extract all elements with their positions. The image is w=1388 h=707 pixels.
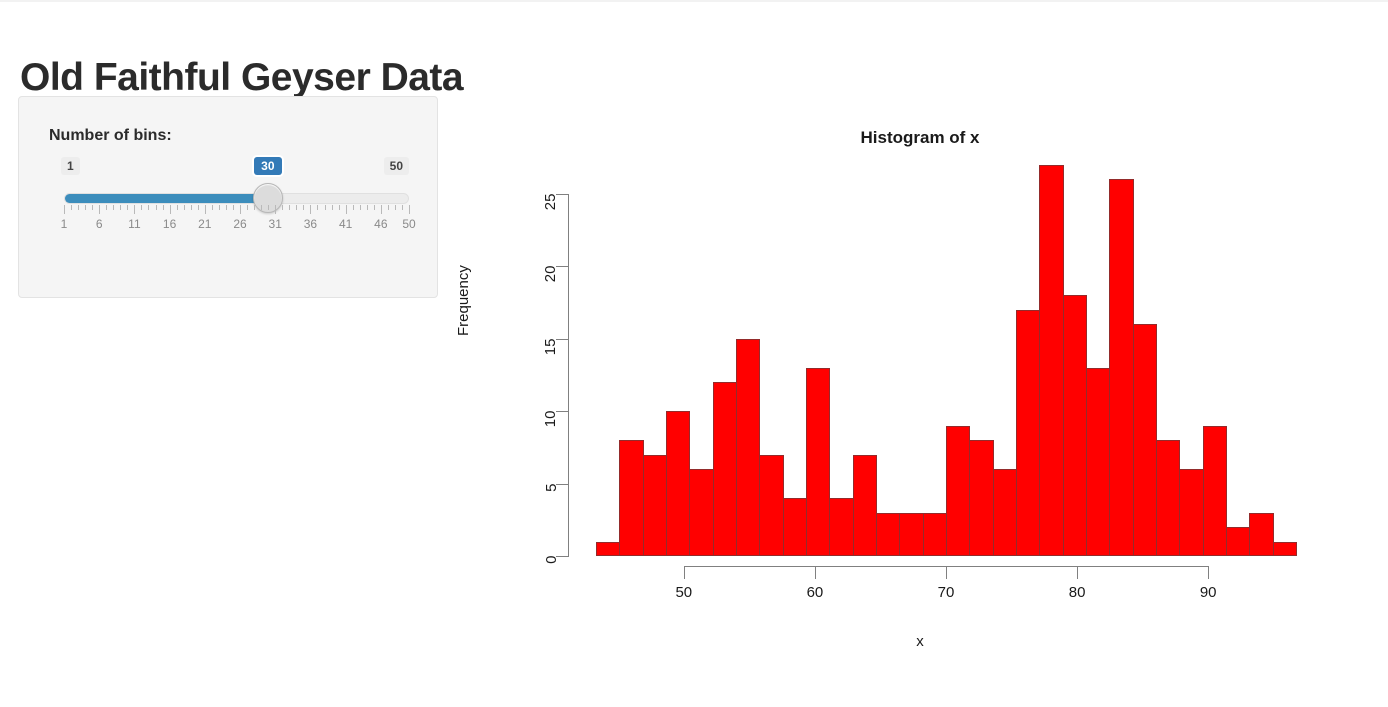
- slider-tick-label: 6: [96, 217, 103, 231]
- histogram-bar: [923, 513, 947, 556]
- slider-tick: [134, 205, 135, 214]
- slider-tick: [170, 205, 171, 214]
- slider-tick-label: 1: [61, 217, 68, 231]
- histogram-bar: [993, 469, 1017, 556]
- slider-tick: [268, 205, 269, 210]
- slider-tick: [212, 205, 213, 210]
- y-axis-tick-label: 25: [543, 193, 560, 210]
- x-axis-tick: [1208, 566, 1209, 579]
- slider-tick: [156, 205, 157, 210]
- x-axis-tick: [1077, 566, 1078, 579]
- slider-tick: [191, 205, 192, 210]
- slider-value-bubble: 30: [254, 157, 281, 175]
- slider-tick-label: 36: [304, 217, 317, 231]
- histogram-bar: [899, 513, 923, 556]
- histogram-bar: [689, 469, 713, 556]
- slider-tick: [184, 205, 185, 210]
- slider-tick: [353, 205, 354, 210]
- slider-tick: [78, 205, 79, 210]
- chart-title: Histogram of x: [460, 128, 1380, 148]
- slider-tick: [395, 205, 396, 210]
- histogram-bar: [876, 513, 900, 556]
- sidebar-well-panel: Number of bins: 1 30 50 1611162126313641…: [18, 96, 438, 298]
- slider-tick: [120, 205, 121, 210]
- y-axis: 0510152025: [555, 200, 569, 540]
- y-axis-label: Frequency: [455, 265, 472, 336]
- y-axis-tick-label: 0: [543, 556, 560, 564]
- slider-tick-labels: 16111621263136414650: [64, 217, 409, 233]
- slider-tick: [360, 205, 361, 210]
- slider-tick: [85, 205, 86, 210]
- y-axis-tick-label: 5: [543, 483, 560, 491]
- slider-tick: [409, 205, 410, 214]
- y-axis-tick-label: 10: [543, 411, 560, 428]
- slider-tick: [254, 205, 255, 210]
- histogram-bar: [806, 368, 830, 556]
- slider-tick-label: 41: [339, 217, 352, 231]
- histogram-bar: [1203, 426, 1227, 556]
- slider-tick: [282, 205, 283, 210]
- slider-tick-label: 26: [233, 217, 246, 231]
- x-axis-tick-label: 80: [1069, 584, 1086, 601]
- slider-tick: [106, 205, 107, 210]
- slider-tick: [219, 205, 220, 210]
- slider-tick: [339, 205, 340, 210]
- slider-fill: [65, 194, 268, 203]
- slider-tick: [127, 205, 128, 210]
- slider-min-label: 1: [61, 157, 80, 175]
- x-axis-tick: [946, 566, 947, 579]
- slider-tick: [64, 205, 65, 214]
- x-axis-tick: [815, 566, 816, 579]
- histogram-bar: [783, 498, 807, 556]
- x-axis-tick-label: 60: [807, 584, 824, 601]
- y-axis-spine: [568, 194, 569, 556]
- slider-rail[interactable]: [64, 193, 409, 204]
- histogram-bar: [946, 426, 970, 556]
- slider-tick: [247, 205, 248, 210]
- histogram-bar: [1226, 527, 1250, 556]
- slider-tick: [226, 205, 227, 210]
- slider-tick: [71, 205, 72, 210]
- slider-tick: [325, 205, 326, 210]
- histogram-bar: [1063, 295, 1087, 556]
- slider-tick-marks: [64, 205, 409, 215]
- histogram-bar: [759, 455, 783, 556]
- histogram-bar: [1273, 542, 1297, 556]
- histogram-bar: [666, 411, 690, 556]
- slider-tick: [374, 205, 375, 210]
- histogram-bar: [1016, 310, 1040, 556]
- y-axis-tick-label: 20: [543, 266, 560, 283]
- y-axis-tick-label: 15: [543, 338, 560, 355]
- histogram-bar: [969, 440, 993, 556]
- slider-tick: [367, 205, 368, 210]
- histogram-bar: [1039, 165, 1063, 556]
- slider-tick: [381, 205, 382, 214]
- histogram-bar: [853, 455, 877, 556]
- slider-tick: [148, 205, 149, 210]
- bar-series: [596, 156, 1296, 556]
- slider-tick: [317, 205, 318, 210]
- slider-tick: [113, 205, 114, 210]
- histogram-bar: [643, 455, 667, 556]
- histogram-bar: [596, 542, 620, 556]
- slider-tick: [275, 205, 276, 214]
- histogram-bar: [1133, 324, 1157, 556]
- histogram-bar: [1086, 368, 1110, 556]
- x-axis: [596, 566, 1296, 582]
- slider-tick-label: 21: [198, 217, 211, 231]
- slider-tick: [92, 205, 93, 210]
- histogram-bar: [619, 440, 643, 556]
- slider-tick-label: 11: [128, 217, 140, 231]
- page-title: Old Faithful Geyser Data: [20, 56, 463, 100]
- x-axis-tick-label: 90: [1200, 584, 1217, 601]
- slider-label: Number of bins:: [49, 127, 172, 145]
- slider-tick: [205, 205, 206, 214]
- slider-tick: [289, 205, 290, 210]
- x-axis-tick-label: 50: [675, 584, 692, 601]
- histogram-bar: [1179, 469, 1203, 556]
- bins-slider[interactable]: 1 30 50 16111621263136414650: [45, 157, 413, 267]
- slider-tick-label: 46: [374, 217, 387, 231]
- histogram-bar: [1109, 179, 1133, 556]
- histogram-bar: [713, 382, 737, 556]
- slider-tick: [388, 205, 389, 210]
- histogram-bar: [736, 339, 760, 556]
- slider-tick: [296, 205, 297, 210]
- x-axis-label: x: [460, 633, 1380, 650]
- slider-tick: [402, 205, 403, 210]
- slider-tick-label: 16: [163, 217, 176, 231]
- slider-tick: [303, 205, 304, 210]
- histogram-bar: [1156, 440, 1180, 556]
- histogram-bar: [1249, 513, 1273, 556]
- slider-tick: [310, 205, 311, 214]
- slider-tick-label: 50: [402, 217, 415, 231]
- histogram-plot: Histogram of x Frequency 0510152025 5060…: [460, 100, 1380, 680]
- histogram-bar: [829, 498, 853, 556]
- slider-tick: [332, 205, 333, 210]
- slider-tick: [198, 205, 199, 210]
- slider-tick: [233, 205, 234, 210]
- slider-tick: [346, 205, 347, 214]
- top-divider: [0, 0, 1388, 2]
- slider-tick: [163, 205, 164, 210]
- slider-tick: [141, 205, 142, 210]
- x-axis-tick-labels: 5060708090: [596, 584, 1296, 606]
- slider-tick-label: 31: [269, 217, 282, 231]
- slider-tick: [99, 205, 100, 214]
- slider-tick: [261, 205, 262, 210]
- slider-tick: [240, 205, 241, 214]
- x-axis-tick: [684, 566, 685, 579]
- slider-max-label: 50: [384, 157, 409, 175]
- slider-tick: [177, 205, 178, 210]
- x-axis-tick-label: 70: [938, 584, 955, 601]
